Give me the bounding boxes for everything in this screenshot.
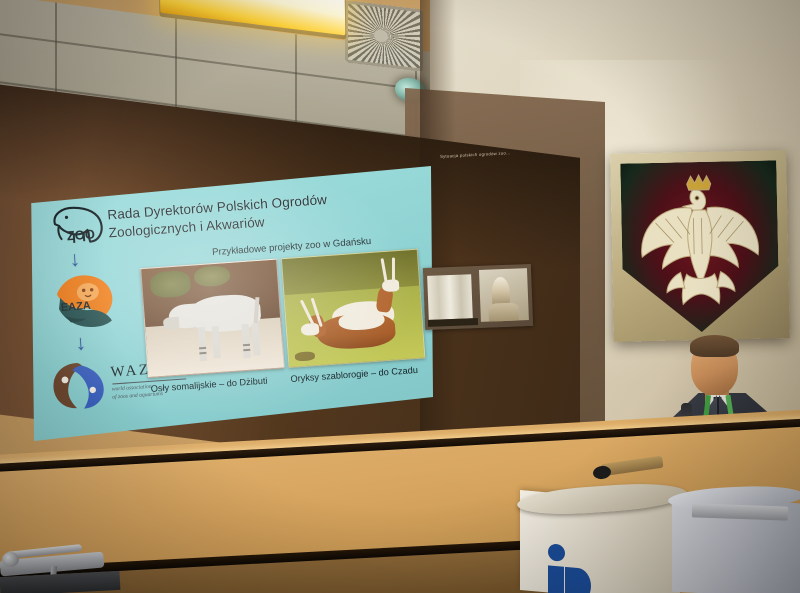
slide-content: ZOO Rada Dyrektorów Polskich Ogrodów Zoo…: [19, 152, 442, 455]
svg-text:ZOO: ZOO: [66, 226, 95, 243]
presenter-hair: [690, 335, 739, 357]
slide-title: Rada Dyrektorów Polskich Ogrodów Zoologi…: [107, 189, 359, 242]
lectern-logo: [544, 543, 590, 593]
eaza-logo: EAZA: [46, 270, 122, 333]
chair-knob: [2, 552, 19, 567]
secondary-display-caption: [428, 318, 478, 327]
caption-scimitar-oryx: Oryksy szablorogie – do Czadu: [290, 365, 418, 384]
secondary-display-left-image: [427, 274, 473, 320]
arrow-zoo-to-eaza-icon: ↓: [69, 249, 81, 271]
photo-scimitar-oryx: [281, 249, 425, 368]
lectern-logo-arc: [565, 567, 591, 593]
zoo-logo: ZOO: [48, 201, 109, 249]
svg-text:EAZA: EAZA: [60, 300, 91, 314]
waza-logo: [48, 357, 112, 413]
lectern-logo-dot: [548, 543, 565, 561]
arrow-eaza-to-waza-icon: ↓: [75, 332, 87, 354]
conference-room-photo: ZOO Rada Dyrektorów Polskich Ogrodów Zoo…: [0, 0, 800, 593]
secondary-display-right-image: [479, 268, 529, 322]
polish-coat-of-arms: [610, 150, 790, 342]
secondary-display[interactable]: [423, 264, 533, 330]
lectern-logo-bar: [548, 565, 564, 593]
photo-somali-wild-ass: [140, 259, 284, 378]
projection-screen[interactable]: ZOO Rada Dyrektorów Polskich Ogrodów Zoo…: [28, 166, 433, 441]
